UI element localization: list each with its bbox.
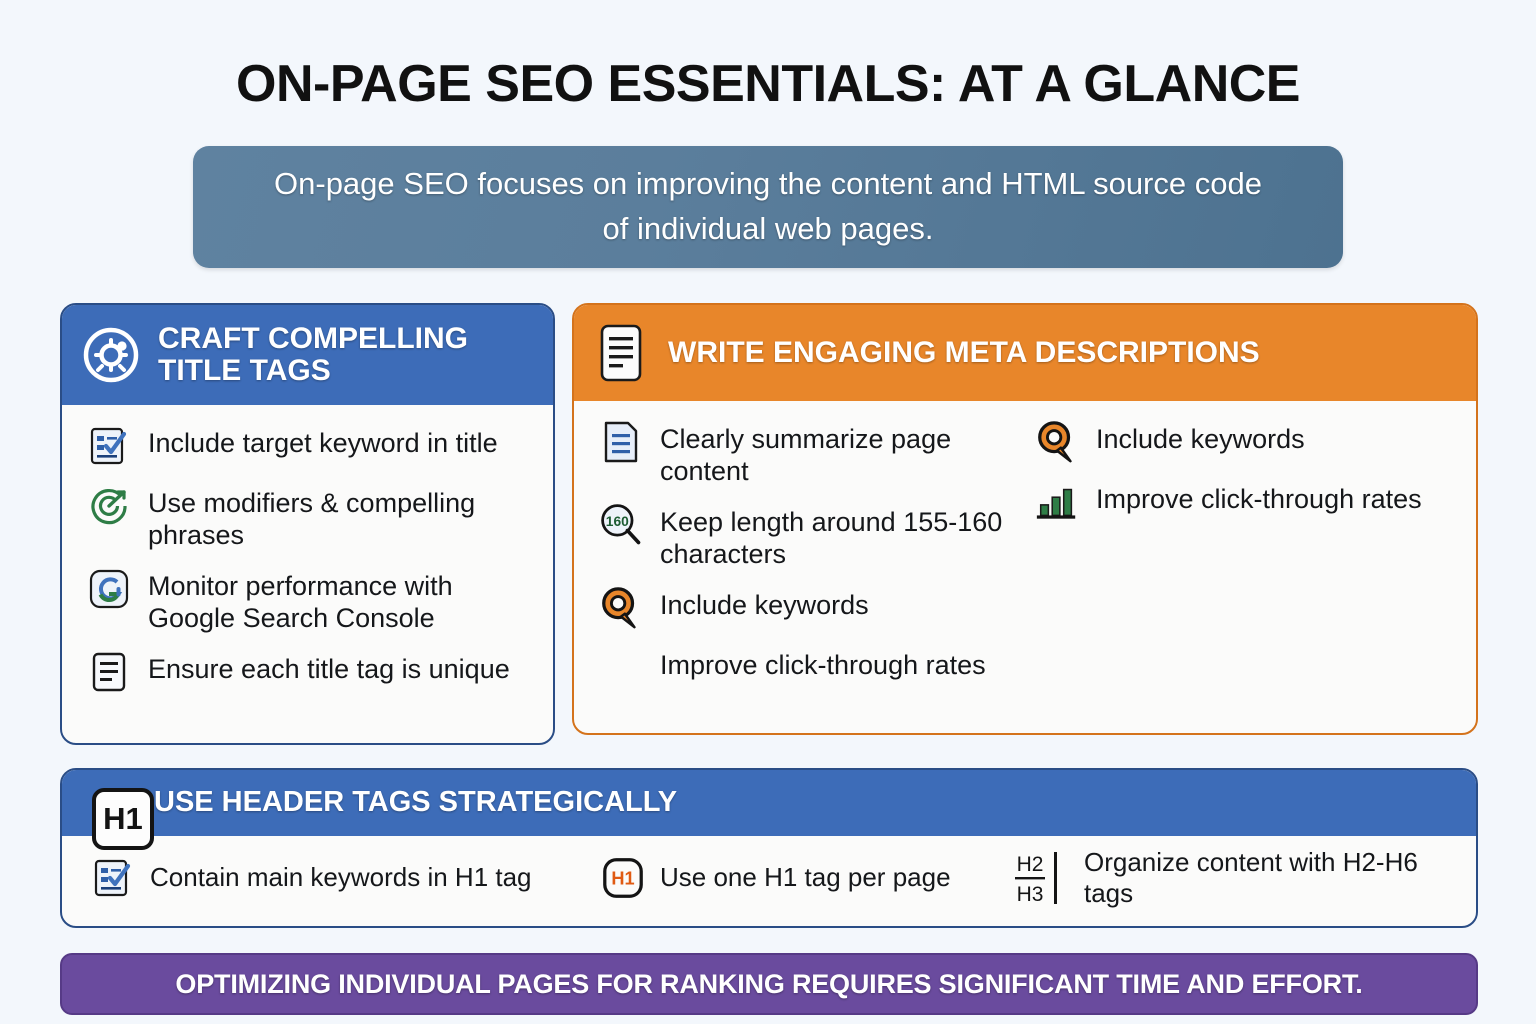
subtitle-text: On-page SEO focuses on improving the con… (258, 162, 1278, 252)
h2-h3-stack-icon: H2 H3 (1010, 846, 1070, 910)
card-header-title-text: WRITE ENGAGING META DESCRIPTIONS (668, 337, 1260, 369)
list-item: Include keywords (1034, 419, 1454, 465)
list-item: Include target keyword in title (86, 423, 531, 469)
list-item: Contain main keywords in H1 tag (90, 855, 590, 901)
subtitle-banner: On-page SEO focuses on improving the con… (193, 146, 1343, 268)
list-item: Clearly summarize page content (598, 419, 1024, 488)
list-item-label: Include keywords (1096, 419, 1305, 455)
h2-label: H2 (1017, 853, 1044, 876)
list-item: Improve click-through rates (598, 645, 1024, 691)
page-title: ON-PAGE SEO ESSENTIALS: AT A GLANCE (0, 0, 1536, 110)
card-body-header-tags: Contain main keywords in H1 tag H1 Use o… (62, 836, 1476, 920)
list-item: Improve click-through rates (1034, 479, 1454, 525)
card-header-header-tags: USE HEADER TAGS STRATEGICALLY (62, 770, 1476, 836)
checklist-document-icon (90, 855, 136, 901)
list-item: Ensure each title tag is unique (86, 649, 531, 695)
card-use-header-tags-strategically: USE HEADER TAGS STRATEGICALLY Contain ma… (60, 768, 1478, 928)
card-header-meta: WRITE ENGAGING META DESCRIPTIONS (574, 305, 1476, 401)
list-item: Include keywords (598, 585, 1024, 631)
list-item-label: Include target keyword in title (148, 423, 498, 459)
card-header-title-tags: CRAFT COMPELLING TITLE TAGS (62, 305, 553, 405)
orange-magnifier-icon (598, 585, 644, 631)
list-item: 160 Keep length around 155-160 character… (598, 502, 1024, 571)
card-craft-compelling-title-tags: CRAFT COMPELLING TITLE TAGS Include targ… (60, 303, 555, 745)
h1-badge-label: H1 (611, 869, 634, 889)
meta-column-right: Include keywords Improve click-through r… (1034, 419, 1454, 705)
card-body-meta: Clearly summarize page content 160 Keep … (574, 401, 1476, 721)
footer-text: OPTIMIZING INDIVIDUAL PAGES FOR RANKING … (175, 969, 1362, 1000)
meta-column-left: Clearly summarize page content 160 Keep … (598, 419, 1024, 705)
list-item-label: Organize content with H2-H6 tags (1084, 847, 1460, 909)
list-item: H1 Use one H1 tag per page (600, 855, 1000, 901)
target-ring-icon (82, 326, 140, 384)
list-item: H2 H3 Organize content with H2-H6 tags (1010, 846, 1460, 910)
footer-banner: OPTIMIZING INDIVIDUAL PAGES FOR RANKING … (60, 953, 1478, 1015)
list-item-label: Use one H1 tag per page (660, 862, 951, 893)
card-write-engaging-meta-descriptions: WRITE ENGAGING META DESCRIPTIONS Clearly… (572, 303, 1478, 735)
list-item: Monitor performance with Google Search C… (86, 566, 531, 635)
list-item-label: Improve click-through rates (1096, 479, 1422, 515)
list-item-label: Include keywords (660, 585, 869, 621)
list-item-label: Contain main keywords in H1 tag (150, 862, 532, 893)
h3-label: H3 (1017, 883, 1044, 906)
green-bar-chart-icon (1034, 479, 1080, 525)
list-item-label: Monitor performance with Google Search C… (148, 566, 531, 635)
list-item-label: Use modifiers & compelling phrases (148, 483, 531, 552)
magnifier-160-label: 160 (606, 514, 629, 529)
orange-magnifier-icon (1034, 419, 1080, 465)
h1-badge-icon: H1 (600, 855, 646, 901)
list-item-label: Improve click-through rates (660, 645, 986, 681)
h1-section-badge: H1 (92, 788, 154, 850)
document-lines-icon (594, 322, 650, 384)
green-target-arrow-icon (86, 483, 132, 529)
list-item-label: Keep length around 155-160 characters (660, 502, 1024, 571)
document-lines-blue-icon (598, 419, 644, 465)
card-header-title-text: CRAFT COMPELLING TITLE TAGS (158, 323, 533, 388)
google-g-icon (86, 566, 132, 612)
card-header-title-text: USE HEADER TAGS STRATEGICALLY (154, 787, 677, 818)
magnifier-160-icon: 160 (598, 502, 644, 548)
list-item-label: Clearly summarize page content (660, 419, 1024, 488)
document-lines-icon (86, 649, 132, 695)
card-body-title-tags: Include target keyword in title Use modi… (62, 405, 553, 725)
checklist-document-icon (86, 423, 132, 469)
list-item: Use modifiers & compelling phrases (86, 483, 531, 552)
list-item-label: Ensure each title tag is unique (148, 649, 510, 685)
